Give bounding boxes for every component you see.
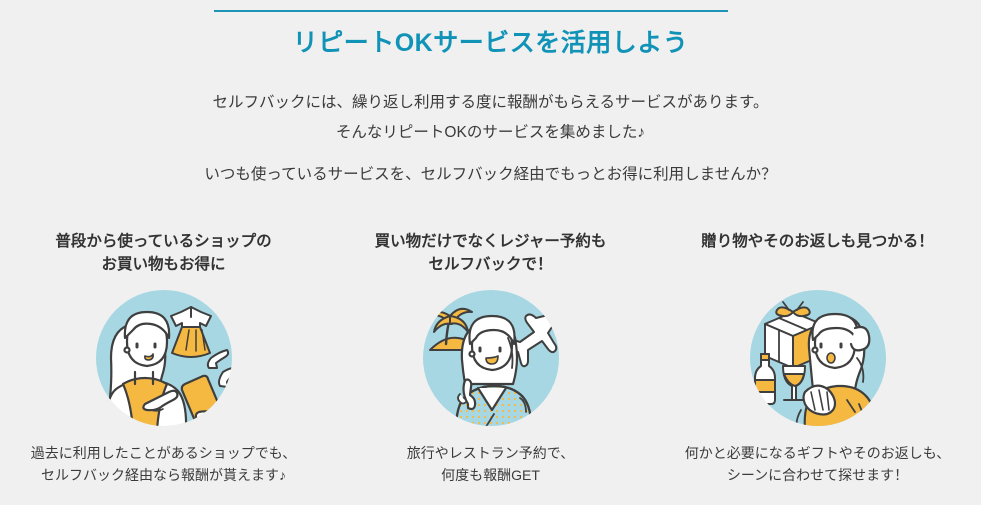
- feature-column-leisure: 買い物だけでなくレジャー予約も セルフバックで！: [327, 230, 654, 486]
- column-heading-line-1: 贈り物やそのお返しも見つかる！: [701, 230, 934, 253]
- feature-columns: 普段から使っているショップの お買い物もお得に: [0, 230, 981, 486]
- intro-line-1: セルフバックには、繰り返し利用する度に報酬がもらえるサービスがあります。: [0, 88, 981, 118]
- column-heading-line-1: 買い物だけでなくレジャー予約も: [375, 230, 607, 253]
- column-caption-line-1: 旅行やレストラン予約で、: [407, 442, 574, 464]
- feature-column-shopping: 普段から使っているショップの お買い物もお得に: [0, 230, 327, 486]
- column-heading-line-2: セルフバックで！: [375, 253, 607, 276]
- intro-paragraph: セルフバックには、繰り返し利用する度に報酬がもらえるサービスがあります。 そんな…: [0, 88, 981, 148]
- column-heading-line-1: 普段から使っているショップの: [55, 230, 271, 253]
- column-caption-gift: 何かと必要になるギフトやそのお返しも、 シーンに合わせて探せます！: [685, 442, 951, 486]
- intro-question: いつも使っているサービスを、セルフバック経由でもっとお得に利用しませんか？: [0, 160, 981, 190]
- column-caption-line-2: シーンに合わせて探せます！: [685, 464, 951, 486]
- column-caption-line-1: 何かと必要になるギフトやそのお返しも、: [685, 442, 951, 464]
- illustration-gift: [743, 288, 893, 430]
- column-caption-line-1: 過去に利用したことがあるショップでも、: [31, 442, 297, 464]
- column-caption-line-2: セルフバック経由なら報酬が貰えます♪: [31, 464, 297, 486]
- column-heading-shopping: 普段から使っているショップの お買い物もお得に: [55, 230, 271, 276]
- woman-shopping-phone-dress-heels-icon: [89, 288, 239, 430]
- intro-line-3: いつも使っているサービスを、セルフバック経由でもっとお得に利用しませんか？: [204, 166, 776, 183]
- intro-line-2: そんなリピートOKのサービスを集めました♪: [0, 118, 981, 148]
- column-heading-leisure: 買い物だけでなくレジャー予約も セルフバックで！: [375, 230, 607, 276]
- promo-page: リピートOKサービスを活用しよう セルフバックには、繰り返し利用する度に報酬がも…: [0, 0, 981, 505]
- illustration-shopping: [89, 288, 239, 430]
- column-caption-shopping: 過去に利用したことがあるショップでも、 セルフバック経由なら報酬が貰えます♪: [31, 442, 297, 486]
- woman-travel-palm-island-airplane-icon: [416, 288, 566, 430]
- column-heading-line-2: お買い物もお得に: [55, 253, 271, 276]
- top-divider: [214, 10, 728, 12]
- illustration-leisure: [416, 288, 566, 430]
- column-caption-line-2: 何度も報酬GET: [407, 464, 574, 486]
- feature-column-gift: 贈り物やそのお返しも見つかる！: [654, 230, 981, 486]
- column-heading-gift: 贈り物やそのお返しも見つかる！: [701, 230, 934, 276]
- page-title: リピートOKサービスを活用しよう: [0, 23, 981, 59]
- column-caption-leisure: 旅行やレストラン予約で、 何度も報酬GET: [407, 442, 574, 486]
- woman-gift-box-wine-glass-icon: [743, 288, 893, 430]
